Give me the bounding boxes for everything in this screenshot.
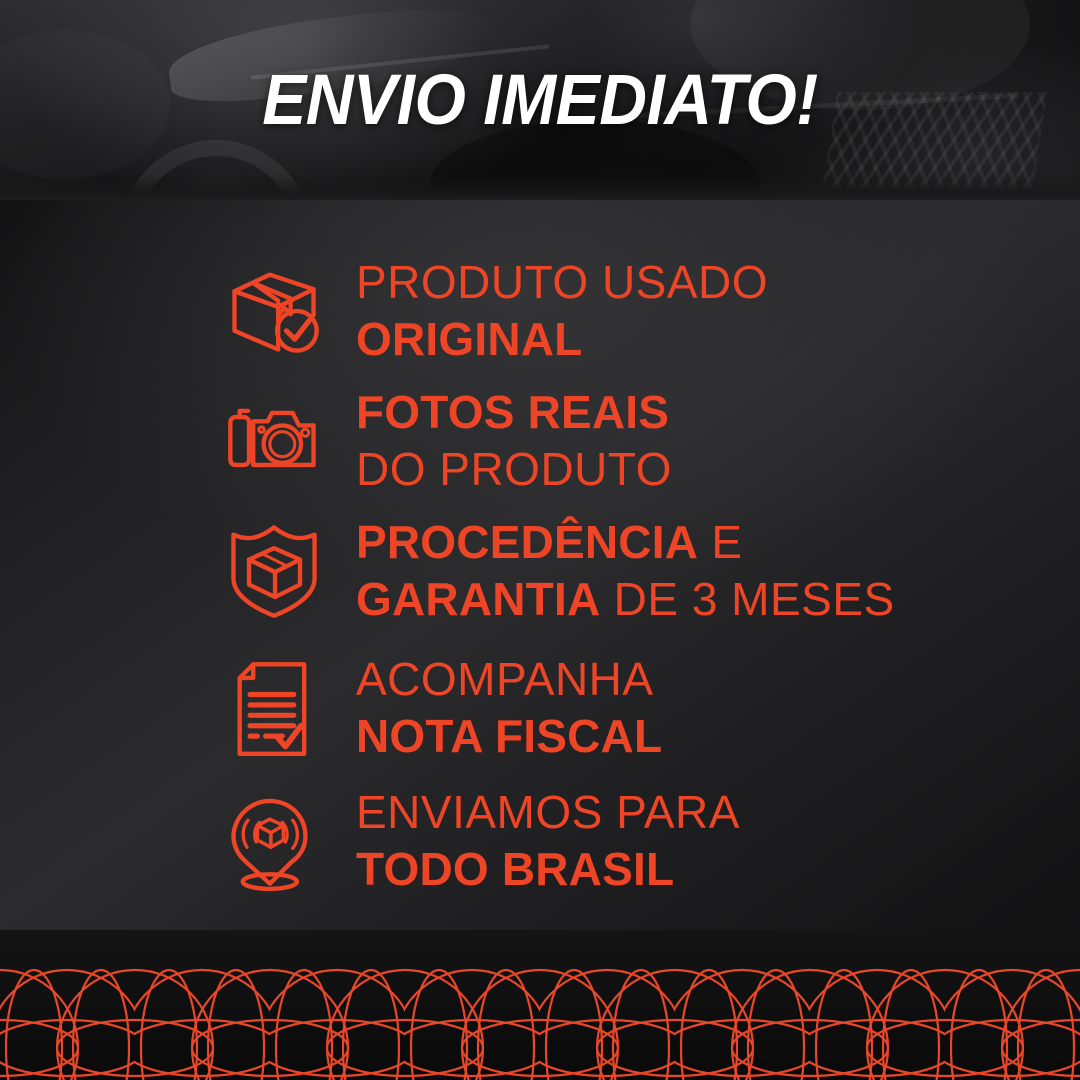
feature-line-2: NOTA FISCAL: [356, 713, 662, 759]
dslr-camera-icon: [222, 388, 326, 492]
header-bottom-fade: [0, 174, 1080, 200]
feature-line-1-rest: E: [698, 516, 742, 568]
feature-line-1: PRODUTO USADO: [356, 259, 768, 305]
feature-line-2: DO PRODUTO: [356, 446, 672, 492]
feature-line-2: GARANTIA DE 3 MESES: [356, 576, 895, 622]
feature-item-todo-brasil: ENVIAMOS PARA TODO BRASIL: [222, 788, 740, 892]
invoice-document-check-icon: [222, 655, 326, 759]
feature-line-1: FOTOS REAIS: [356, 389, 672, 435]
feature-item-procedencia-garantia: PROCEDÊNCIA E GARANTIA DE 3 MESES: [222, 518, 895, 622]
feature-text-procedencia-garantia: PROCEDÊNCIA E GARANTIA DE 3 MESES: [356, 519, 895, 622]
feature-text-todo-brasil: ENVIAMOS PARA TODO BRASIL: [356, 789, 740, 892]
feature-line-2: ORIGINAL: [356, 316, 768, 362]
feature-item-fotos-reais: FOTOS REAIS DO PRODUTO: [222, 388, 672, 492]
feature-line-2: TODO BRASIL: [356, 846, 740, 892]
feature-line-1: ENVIAMOS PARA: [356, 789, 740, 835]
feature-line-2-strong: GARANTIA: [356, 573, 600, 625]
promo-banner: ENVIO IMEDIATO! PRODUTO USADO ORIGINAL: [0, 0, 1080, 1080]
feature-line-2-rest: DE 3 MESES: [600, 573, 894, 625]
package-box-check-icon: [222, 258, 326, 362]
feature-item-produto-original: PRODUTO USADO ORIGINAL: [222, 258, 768, 362]
feature-line-1-strong: PROCEDÊNCIA: [356, 516, 698, 568]
feature-line-1: PROCEDÊNCIA E: [356, 519, 895, 565]
feature-text-fotos-reais: FOTOS REAIS DO PRODUTO: [356, 389, 672, 492]
feature-text-nota-fiscal: ACOMPANHA NOTA FISCAL: [356, 656, 662, 759]
header-band: ENVIO IMEDIATO!: [0, 0, 1080, 200]
map-pin-box-icon: [222, 788, 326, 892]
shield-box-icon: [222, 518, 326, 622]
feature-text-produto-original: PRODUTO USADO ORIGINAL: [356, 259, 768, 362]
footer-decorative-pattern: [0, 930, 1080, 1080]
feature-list: PRODUTO USADO ORIGINAL FOTOS REAIS: [0, 200, 1080, 940]
feature-line-1: ACOMPANHA: [356, 656, 662, 702]
page-title: ENVIO IMEDIATO!: [38, 57, 1042, 145]
feature-item-nota-fiscal: ACOMPANHA NOTA FISCAL: [222, 655, 662, 759]
